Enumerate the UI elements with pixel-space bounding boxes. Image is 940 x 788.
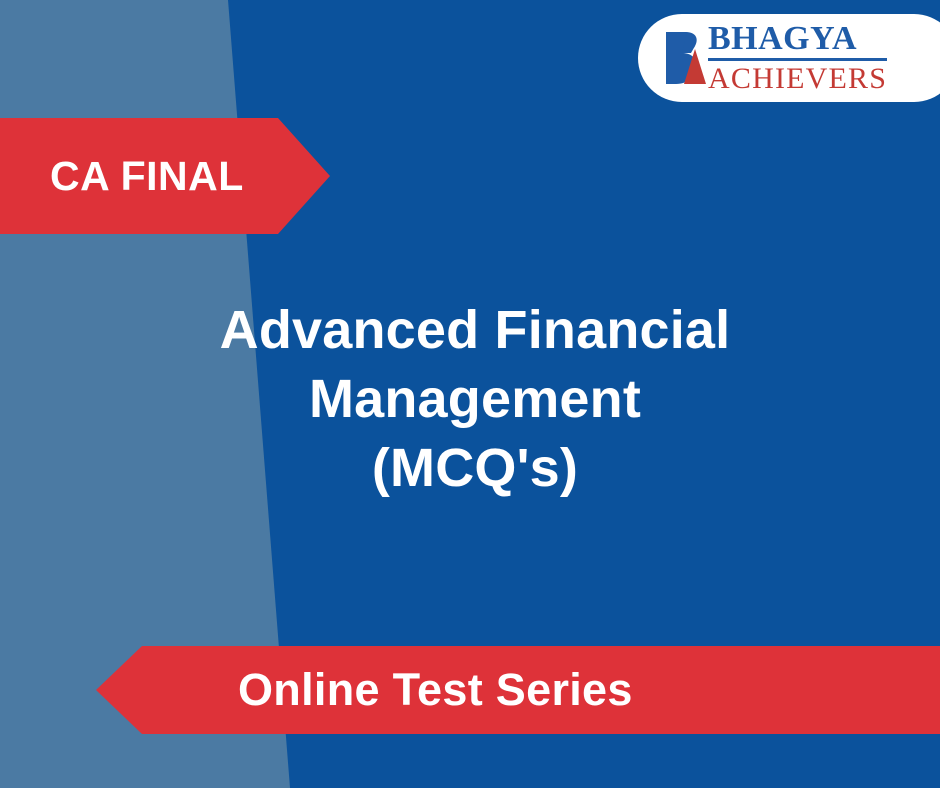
poster-title: Advanced Financial Management (MCQ's) <box>170 296 780 503</box>
course-promo-poster: BHAGYA ACHIEVERS CA FINAL Advanced Finan… <box>0 0 940 788</box>
brand-logo-card: BHAGYA ACHIEVERS <box>638 14 940 102</box>
course-level-label: CA FINAL <box>0 153 244 200</box>
brand-wordmark: BHAGYA ACHIEVERS <box>708 22 887 94</box>
footer-banner-label: Online Test Series <box>96 664 633 716</box>
brand-name-secondary: ACHIEVERS <box>708 64 887 94</box>
poster-title-line-3: (MCQ's) <box>170 434 780 503</box>
poster-title-line-1: Advanced Financial <box>170 296 780 365</box>
course-level-badge: CA FINAL <box>0 118 330 234</box>
footer-banner: Online Test Series <box>96 646 940 734</box>
poster-title-line-2: Management <box>170 365 780 434</box>
bhagya-achievers-monogram-icon <box>664 29 710 87</box>
brand-name-primary: BHAGYA <box>708 22 887 61</box>
